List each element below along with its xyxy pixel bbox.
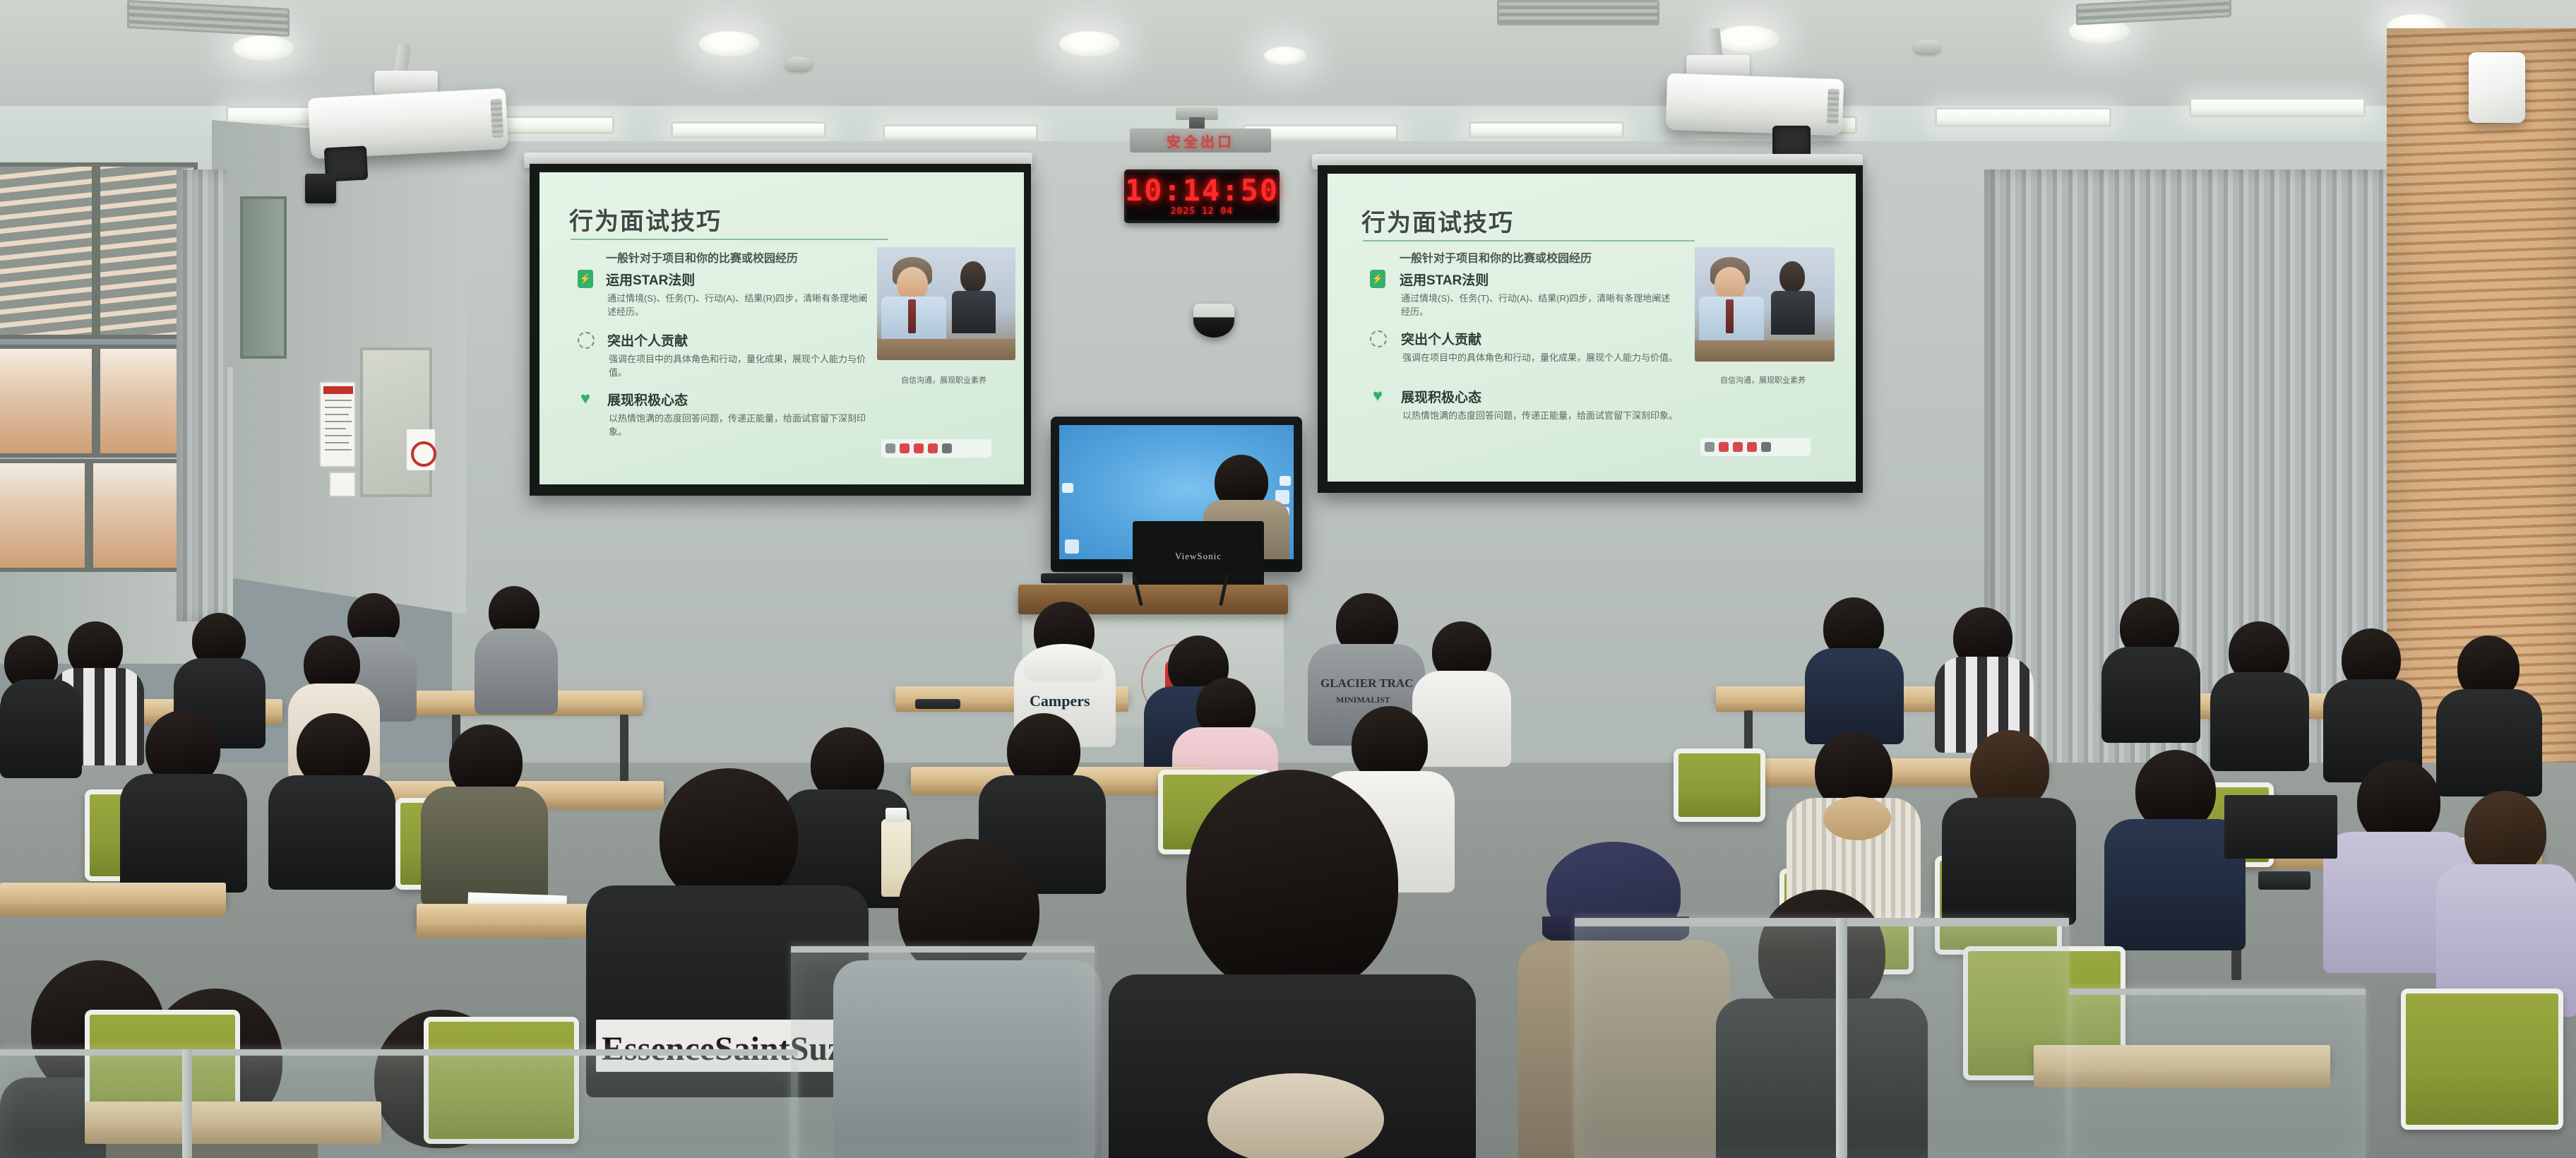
ceiling-light-panel (1935, 107, 2111, 127)
slide-illustration (1695, 247, 1835, 362)
notice-text-line (325, 414, 349, 415)
desk (0, 883, 226, 905)
display-side-tool-left[interactable] (1062, 483, 1073, 493)
bottle-cap (885, 808, 907, 822)
slide-point-body: 通过情境(S)、任务(T)、行动(A)、结果(R)四步，清晰有条理地阐述经历。 (607, 292, 876, 319)
toolbar-highlight-icon[interactable] (1719, 442, 1729, 452)
projection-screen-left: 行为面试技巧 一般针对于项目和你的比赛或校园经历 ⚡ 运用STAR法则 通过情境… (530, 164, 1031, 496)
slide-right: 行为面试技巧 一般针对于项目和你的比赛或校园经历 ⚡ 运用STAR法则 通过情境… (1328, 174, 1856, 482)
student (475, 586, 559, 713)
apparel-text: GLACIER TRAC (1320, 676, 1413, 691)
student (2436, 791, 2576, 1017)
notice-header-bar (323, 386, 353, 394)
notice-text-line (325, 400, 352, 401)
wall-mounted-air-unit (2469, 52, 2525, 123)
apparel-subtext: MINIMALIST (1336, 695, 1390, 705)
glass-safety-rail (1575, 918, 2069, 1158)
window-mullion (85, 459, 93, 572)
toolbar-pen-icon[interactable] (1705, 442, 1715, 452)
slide-divider (571, 239, 888, 240)
slide-point-heading: 展现积极心态 (607, 390, 688, 409)
slide-lead-text: 一般针对于项目和你的比赛或校园经历 (1400, 249, 1592, 265)
notice-text-line (325, 449, 352, 450)
projector-lens-icon (1772, 126, 1811, 157)
slide-point-heading: 运用STAR法则 (1400, 270, 1489, 289)
ceiling-light-panel (1469, 121, 1624, 138)
toolbar-more-icon[interactable] (1761, 442, 1771, 452)
glass-safety-rail (0, 1049, 798, 1158)
illustration-second-body (1771, 291, 1815, 335)
fur-collar (1207, 1073, 1384, 1158)
student-body (120, 774, 247, 893)
illustration-desk (1695, 340, 1835, 362)
window-mullion (92, 162, 100, 339)
display-start-icon[interactable] (1065, 539, 1079, 554)
smartphone[interactable] (2258, 871, 2310, 890)
student-head (1186, 770, 1398, 996)
toolbar-highlight-icon[interactable] (900, 443, 910, 453)
student-foreground-center (1109, 770, 1476, 1158)
electrical-cabinet[interactable] (360, 347, 432, 497)
projector-right (1666, 73, 1844, 136)
smartphone[interactable] (915, 699, 960, 709)
student-body (2101, 647, 2200, 743)
heart-icon: ♥ (576, 390, 595, 408)
led-clock-date: 2025 12 04 (1171, 206, 1233, 217)
desk-edge (0, 904, 226, 917)
illustration-head (1715, 267, 1746, 301)
illustration-tie (908, 299, 916, 333)
smoke-detector-icon (1914, 40, 1940, 54)
projector-mount (1686, 55, 1750, 76)
emergency-exit-sign: 安全出口 (1130, 129, 1271, 153)
notice-text-line (325, 421, 352, 422)
student (1787, 732, 1921, 915)
student-head (2464, 791, 2546, 876)
dome-camera (1193, 304, 1234, 338)
slide-toolbar[interactable] (881, 439, 991, 458)
slide-point-body: 强调在项目中的具体角色和行动，量化成果，展现个人能力与价值。 (609, 353, 877, 380)
smoke-detector-icon (785, 56, 812, 71)
notice-text-line (325, 442, 349, 443)
student-body (475, 628, 558, 715)
toolbar-pdf-icon[interactable] (928, 443, 938, 453)
slide-point-heading: 展现积极心态 (1401, 387, 1481, 406)
hoodie-hood (1024, 644, 1103, 682)
monitor-brand-label: ViewSonic (1133, 551, 1264, 562)
toolbar-record-icon[interactable] (1733, 442, 1743, 452)
wall-notice-board (319, 381, 356, 467)
clipboard-icon: ⚡ (1370, 270, 1385, 288)
illustration-desk (877, 339, 1015, 360)
student-body (1942, 798, 2076, 925)
wall-small-label (329, 472, 356, 497)
scarf (1823, 796, 1891, 840)
slide-photo-caption: 自信沟通，展现职业素养 (901, 374, 986, 386)
exit-sign-label: 安全出口 (1167, 131, 1234, 151)
notice-text-line (325, 407, 352, 408)
slide-title: 行为面试技巧 (569, 202, 722, 237)
student (0, 635, 78, 777)
toolbar-more-icon[interactable] (942, 443, 952, 453)
apparel-text: Campers (1030, 692, 1090, 710)
rail-post (182, 1049, 192, 1158)
window-mullion (92, 345, 100, 458)
slide-point-heading: 突出个人贡献 (1401, 329, 1481, 348)
student (2101, 597, 2200, 739)
clipboard-icon: ⚡ (578, 270, 593, 288)
slide-point-heading: 运用STAR法则 (606, 270, 695, 289)
ceiling-light-round (1059, 31, 1120, 56)
slide-title: 行为面试技巧 (1361, 203, 1514, 238)
slide-point-heading: 突出个人贡献 (607, 330, 688, 350)
led-clock-time: 10:14:50 (1125, 175, 1279, 206)
slide-divider (1363, 240, 1695, 241)
student (2210, 621, 2309, 763)
glass-safety-rail (2069, 989, 2366, 1158)
ceiling-light-round (1264, 47, 1306, 65)
classroom-photo-scene: 安全出口 10:14:50 2025 12 04 行为面试技巧 一般针对于项目和… (0, 0, 2576, 1158)
ceiling-light-round (1716, 25, 1779, 52)
ceiling-light-panel (883, 124, 1038, 141)
slide-point-body: 强调在项目中的具体角色和行动，量化成果，展现个人能力与价值。 (1402, 352, 1678, 365)
slide-illustration (877, 247, 1015, 360)
illustration-tie (1726, 299, 1734, 333)
slide-toolbar[interactable] (1700, 438, 1811, 456)
classroom-chair[interactable] (2401, 989, 2563, 1130)
student (421, 724, 548, 901)
projection-screen-right: 行为面试技巧 一般针对于项目和你的比赛或校园经历 ⚡ 运用STAR法则 通过情境… (1318, 165, 1863, 493)
slide-point-body: 以热情饱满的态度回答问题，传递正能量，给面试官留下深刻印象。 (609, 412, 877, 439)
toolbar-record-icon[interactable] (914, 443, 924, 453)
student (120, 710, 247, 887)
projector-mount (374, 71, 438, 95)
slide-left: 行为面试技巧 一般针对于项目和你的比赛或校园经历 ⚡ 运用STAR法则 通过情境… (539, 172, 1024, 484)
notice-text-line (325, 435, 352, 436)
ceiling-light-panel (2189, 97, 2366, 117)
glass-safety-rail (791, 946, 1095, 1158)
illustration-second-head (960, 261, 986, 292)
ceiling-air-vent (1497, 0, 1659, 25)
heart-icon: ♥ (1368, 387, 1387, 405)
led-wall-clock: 10:14:50 2025 12 04 (1124, 169, 1280, 223)
ceiling-light-panel (671, 121, 826, 138)
no-smoking-sign-icon (407, 429, 435, 470)
ceiling-speaker (305, 174, 336, 203)
student-body (268, 775, 395, 890)
student (268, 713, 395, 883)
ceiling-light-round (699, 31, 760, 56)
side-door[interactable] (240, 196, 287, 359)
student-body (421, 787, 548, 905)
lectern-device[interactable] (1041, 573, 1123, 583)
student (1935, 607, 2034, 748)
curtain-left (177, 169, 227, 621)
student-body (0, 679, 82, 778)
slide-lead-text: 一般针对于项目和你的比赛或校园经历 (606, 249, 798, 265)
student-body (1805, 648, 1904, 744)
ceiling-light-round (233, 35, 294, 61)
student (2323, 628, 2422, 777)
toolbar-pdf-icon[interactable] (1747, 442, 1757, 452)
target-ring-icon (578, 332, 595, 349)
slide-point-body: 通过情境(S)、任务(T)、行动(A)、结果(R)四步，清晰有条理地阐述经历。 (1401, 292, 1676, 319)
toolbar-pen-icon[interactable] (885, 443, 895, 453)
slide-photo-caption: 自信沟通，展现职业素养 (1720, 374, 1806, 386)
notice-text-line (325, 428, 346, 429)
rail-post (1836, 918, 1847, 1158)
student (1942, 730, 2076, 921)
laptop[interactable] (2224, 795, 2337, 859)
window-lower-glass (0, 459, 198, 572)
classroom-chair[interactable] (1674, 748, 1765, 822)
slide-point-body: 以热情饱满的态度回答问题，传递正能量，给面试官留下深刻印象。 (1402, 410, 1678, 423)
illustration-second-head (1779, 261, 1805, 292)
target-ring-icon (1370, 330, 1387, 347)
student (1805, 597, 1904, 739)
illustration-head (897, 267, 928, 301)
illustration-second-body (952, 291, 996, 333)
